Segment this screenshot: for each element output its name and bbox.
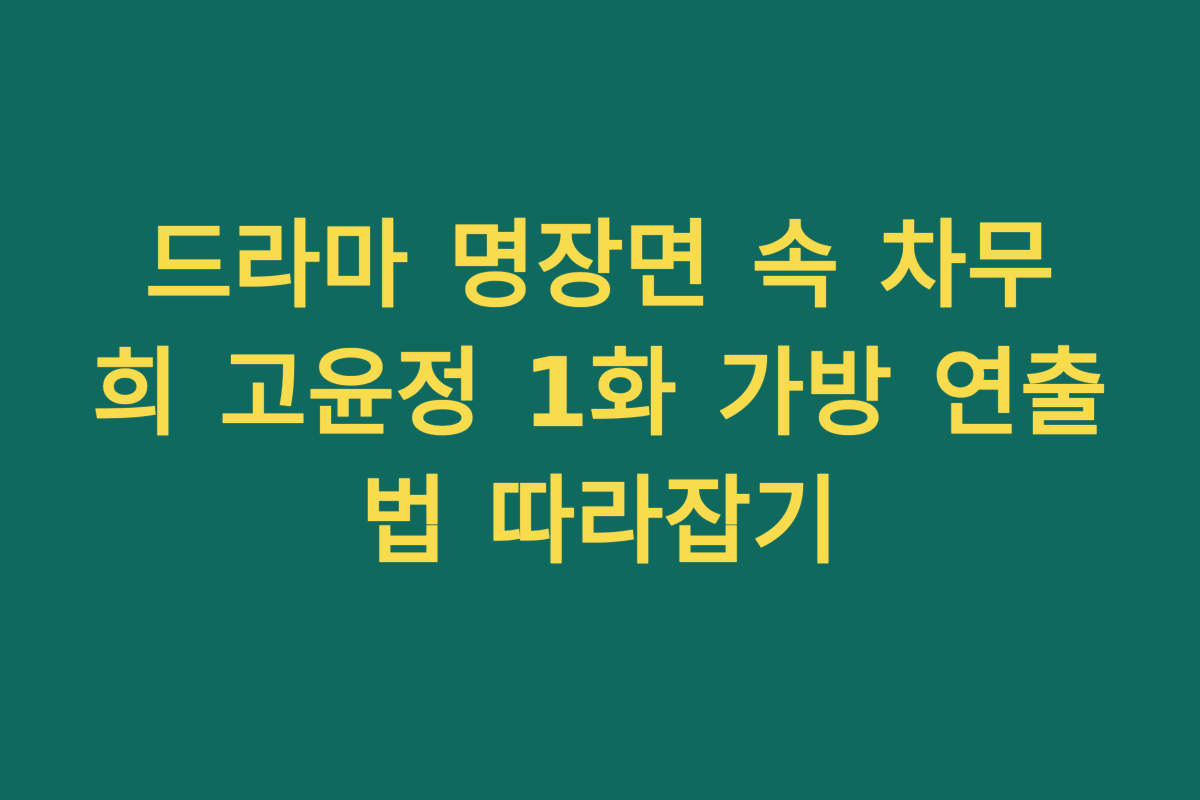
title-card: 드라마 명장면 속 차무 희 고윤정 1화 가방 연출 법 따라잡기 (0, 0, 1200, 800)
headline-text-block: 드라마 명장면 속 차무 희 고윤정 1화 가방 연출 법 따라잡기 (65, 202, 1135, 586)
headline-line-1: 드라마 명장면 속 차무 (71, 202, 1129, 330)
headline-line-3: 법 따라잡기 (71, 458, 1129, 586)
headline-line-2: 희 고윤정 1화 가방 연출 (71, 330, 1129, 458)
